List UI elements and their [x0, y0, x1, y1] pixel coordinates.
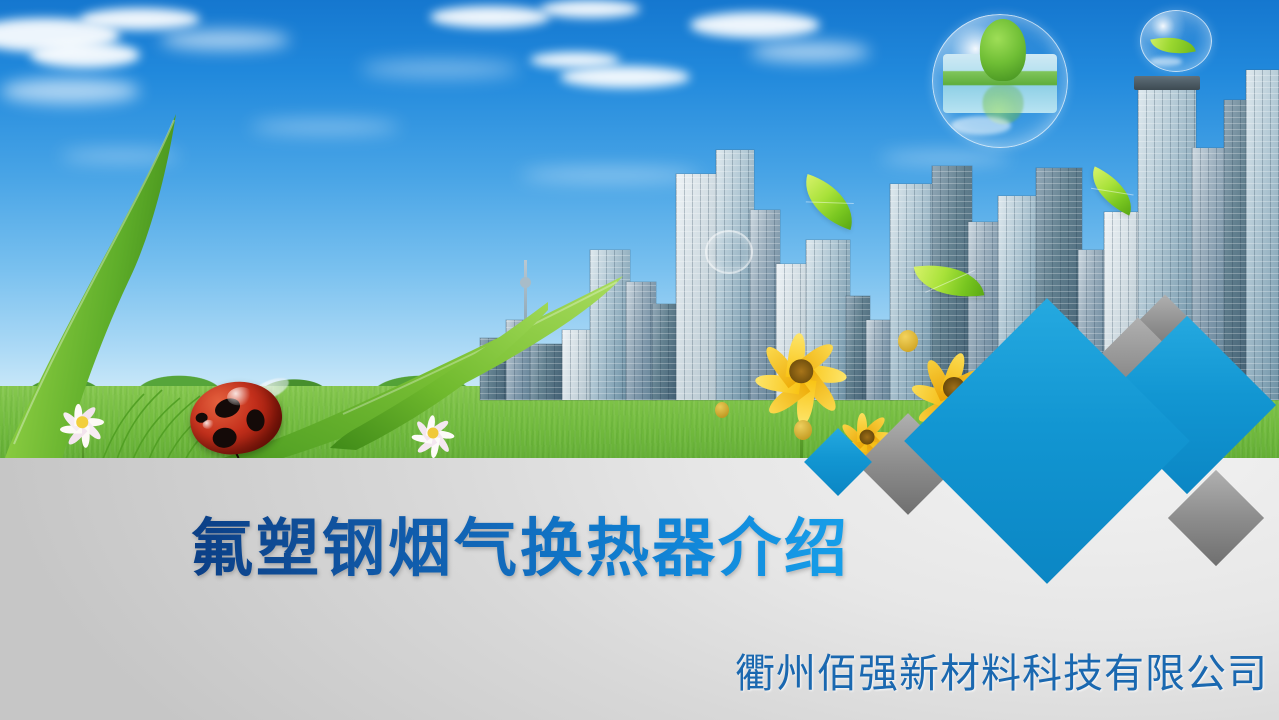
building	[652, 304, 678, 400]
building	[716, 150, 754, 400]
flower-center	[860, 430, 875, 445]
cloud-icon	[0, 78, 140, 104]
flower-bud	[898, 330, 918, 352]
cloud-icon	[540, 0, 640, 18]
cloud-icon	[690, 12, 820, 38]
soap-bubble-with-tree	[932, 14, 1068, 148]
building-rooftop	[1134, 76, 1200, 90]
page-title: 氟塑钢烟气换热器介绍	[190, 515, 850, 583]
cloud-icon	[80, 8, 200, 30]
soap-bubble-with-leaf	[1140, 10, 1212, 72]
white-cosmos-flower	[58, 398, 106, 446]
bubble-highlight	[951, 116, 1011, 135]
cloud-icon	[30, 42, 140, 68]
soap-bubble-outline	[705, 230, 753, 274]
title-slide: 氟塑钢烟气换热器介绍 衢州佰强新材料科技有限公司	[0, 0, 1279, 720]
building	[676, 174, 720, 400]
flower-center	[427, 427, 438, 438]
white-cosmos-flower	[410, 410, 456, 456]
flower-bud	[715, 402, 729, 418]
flower-center	[789, 359, 813, 383]
flower-center	[76, 416, 88, 428]
building	[1246, 70, 1279, 400]
flower-bud	[794, 420, 812, 440]
cloud-icon	[250, 120, 400, 134]
ladybug	[185, 376, 286, 460]
company-name: 衢州佰强新材料科技有限公司	[735, 641, 1268, 699]
cloud-icon	[160, 30, 290, 50]
bubble-highlight	[1150, 57, 1182, 66]
cloud-icon	[750, 42, 870, 62]
cloud-icon	[430, 6, 550, 28]
